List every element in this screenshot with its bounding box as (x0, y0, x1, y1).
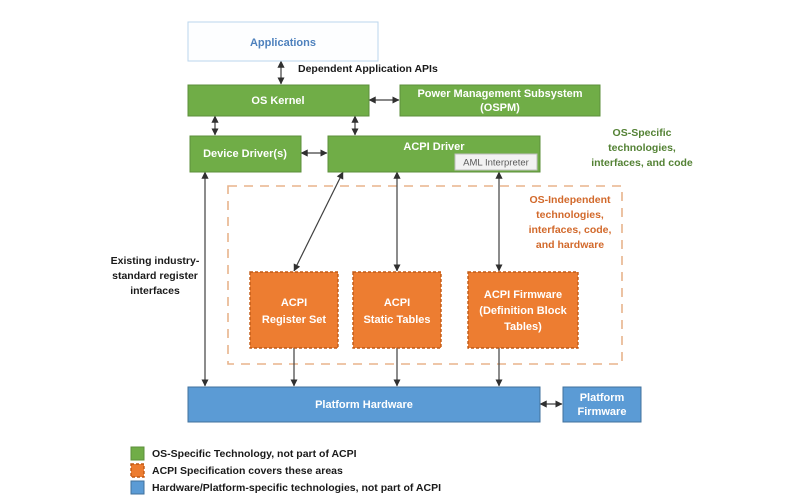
aml-interpreter-label: AML Interpreter (463, 158, 529, 169)
dependent-application-apis-label: Dependent Application APIs (298, 63, 438, 75)
legend-item-hardware: Hardware/Platform-specific technologies,… (131, 481, 441, 494)
legend-label-acpi: ACPI Specification covers these areas (152, 465, 343, 477)
platform-firmware-line2: Firmware (578, 406, 627, 418)
box-acpi-register-set[interactable]: ACPI Register Set (250, 272, 338, 348)
acpi-register-set-line2: Register Set (262, 314, 327, 326)
acpi-driver-label: ACPI Driver (403, 141, 465, 153)
box-platform-firmware[interactable]: Platform Firmware (563, 387, 641, 422)
box-ospm[interactable]: Power Management Subsystem (OSPM) (400, 85, 600, 116)
annotation-os-specific: OS-Specific technologies, interfaces, an… (591, 127, 693, 169)
applications-label: Applications (250, 37, 316, 49)
box-device-drivers[interactable]: Device Driver(s) (190, 136, 301, 172)
box-acpi-static-tables[interactable]: ACPI Static Tables (353, 272, 441, 348)
annotation-os-independent: OS-Independent technologies, interfaces,… (529, 194, 612, 251)
platform-firmware-line1: Platform (580, 392, 625, 404)
acpi-architecture-diagram: Applications Dependent Application APIs … (0, 0, 800, 500)
device-drivers-label: Device Driver(s) (203, 148, 287, 160)
box-os-kernel[interactable]: OS Kernel (188, 85, 369, 116)
ospm-label-line2: (OSPM) (480, 102, 520, 114)
os-specific-line3: interfaces, and code (591, 157, 693, 169)
box-acpi-firmware[interactable]: ACPI Firmware (Definition Block Tables) (468, 272, 578, 348)
os-independent-line1: OS-Independent (529, 194, 611, 206)
connector-acpi-driver-register-set (294, 172, 343, 271)
acpi-static-tables-line1: ACPI (384, 297, 410, 309)
os-independent-line4: and hardware (536, 239, 604, 251)
existing-registers-line3: interfaces (130, 285, 180, 297)
os-specific-line2: technologies, (608, 142, 676, 154)
acpi-static-tables-line2: Static Tables (363, 314, 430, 326)
box-applications[interactable]: Applications (188, 22, 378, 61)
legend-label-hardware: Hardware/Platform-specific technologies,… (152, 482, 441, 494)
os-independent-line2: technologies, (536, 209, 604, 221)
diagram-canvas: Applications Dependent Application APIs … (0, 0, 800, 500)
annotation-existing-registers: Existing industry- standard register int… (111, 255, 200, 297)
legend-item-os-specific: OS-Specific Technology, not part of ACPI (131, 447, 357, 460)
legend-swatch-green (131, 447, 144, 460)
legend-swatch-orange (131, 464, 144, 477)
acpi-firmware-line2: (Definition Block (479, 305, 567, 317)
os-kernel-label: OS Kernel (251, 95, 304, 107)
legend-item-acpi: ACPI Specification covers these areas (131, 464, 343, 477)
acpi-firmware-line3: Tables) (504, 321, 542, 333)
existing-registers-line1: Existing industry- (111, 255, 200, 267)
legend-label-os-specific: OS-Specific Technology, not part of ACPI (152, 448, 357, 460)
existing-registers-line2: standard register (112, 270, 198, 282)
acpi-firmware-line1: ACPI Firmware (484, 289, 562, 301)
box-platform-hardware[interactable]: Platform Hardware (188, 387, 540, 422)
acpi-register-set-line1: ACPI (281, 297, 307, 309)
os-specific-line1: OS-Specific (613, 127, 672, 139)
platform-hardware-label: Platform Hardware (315, 399, 413, 411)
box-aml-interpreter[interactable]: AML Interpreter (455, 154, 537, 170)
os-independent-line3: interfaces, code, (529, 224, 612, 236)
legend: OS-Specific Technology, not part of ACPI… (131, 447, 441, 494)
ospm-label-line1: Power Management Subsystem (417, 88, 582, 100)
legend-swatch-blue (131, 481, 144, 494)
